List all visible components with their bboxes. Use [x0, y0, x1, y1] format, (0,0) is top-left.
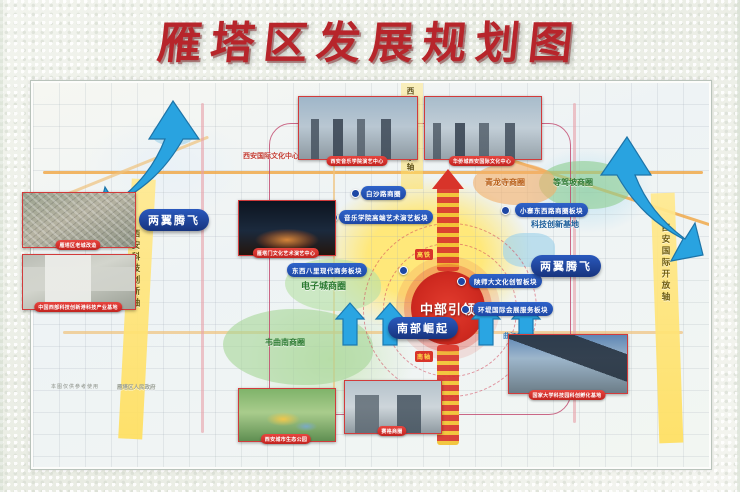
photo-skyline-caption: 西安音乐学院演艺中心 [326, 156, 387, 166]
area-label-dengjiapo: 等驾坡商圈 [553, 177, 593, 188]
area-label-weiqu-south: 韦曲南商圈 [265, 337, 305, 348]
marker-dot-expo[interactable] [461, 305, 470, 314]
area-label-district-government: 雁塔区人民政府 [117, 383, 156, 391]
marker-dot-xiaozhai[interactable] [501, 206, 510, 215]
callout-music-academy[interactable]: 音乐学院高端艺术演艺板块 [339, 210, 433, 224]
photo-building-caption: 中国西部科技创新港科技产业基地 [34, 302, 122, 312]
photo-cityscape[interactable] [424, 96, 542, 160]
callout-expo-service[interactable]: 环堤国际会展服务板块 [473, 302, 553, 316]
page-title: 雁塔区发展规划图 [155, 7, 586, 71]
marker-dot-baisha[interactable] [351, 189, 360, 198]
photo-university-caption: 国家大学科技园科创孵化基地 [529, 390, 606, 400]
photo-park-caption: 西安城市生态公园 [261, 434, 311, 444]
marker-dot-shida[interactable] [457, 277, 466, 286]
photo-plaza-caption: 赛格商圈 [377, 426, 406, 436]
photo-theatre-caption: 雁塔门文化艺术演艺中心 [253, 248, 319, 258]
area-label-qinglongsi: 青龙寺商圈 [485, 177, 525, 188]
callout-shida-culture[interactable]: 陕师大文化创智板块 [469, 274, 542, 288]
corridor-tag-mid: 南轴 [415, 351, 433, 362]
callout-dongxibali[interactable]: 东西八里现代商务板块 [287, 263, 367, 277]
map-corner-note: 本图仅供参考使用 [51, 383, 99, 390]
strategy-tag-south: 南部崛起 [388, 317, 458, 339]
corridor-north [437, 187, 459, 271]
photo-theatre-stage [239, 201, 335, 255]
area-label-tech-base: 科技创新基地 [531, 219, 579, 230]
wing-arrow-right-icon [595, 129, 705, 279]
strategy-tag-right-wing: 两翼腾飞 [531, 255, 601, 277]
photo-skyline[interactable] [298, 96, 418, 160]
area-label-electronics-district: 电子城商圈 [301, 279, 346, 292]
photo-cityscape-buildings [425, 123, 541, 159]
area-label-intl-culture-center: 西安国际文化中心 [243, 151, 299, 161]
callout-baisha[interactable]: 白沙路商圈 [361, 186, 406, 200]
photo-aerial-texture [23, 193, 135, 247]
photo-cityscape-caption: 华侨城西安国际文化中心 [449, 156, 515, 166]
photo-skyline-buildings [299, 119, 417, 159]
south-arrow-1-icon [333, 301, 367, 347]
callout-xiaozhai[interactable]: 小寨东西路商圈板块 [515, 203, 588, 217]
corridor-tag-north: 高铁 [415, 249, 433, 260]
corridor-arrow-north-icon [432, 169, 464, 189]
strategy-tag-left-wing: 两翼腾飞 [139, 209, 209, 231]
poster-title-area: 雁塔区发展规划图 [0, 8, 740, 70]
photo-building-blocks [23, 255, 135, 309]
photo-university[interactable] [508, 334, 628, 394]
photo-university-structure [509, 335, 627, 393]
marker-dot-dongxibali[interactable] [399, 266, 408, 275]
photo-aerial-caption: 雁塔区老城改造 [55, 240, 100, 250]
